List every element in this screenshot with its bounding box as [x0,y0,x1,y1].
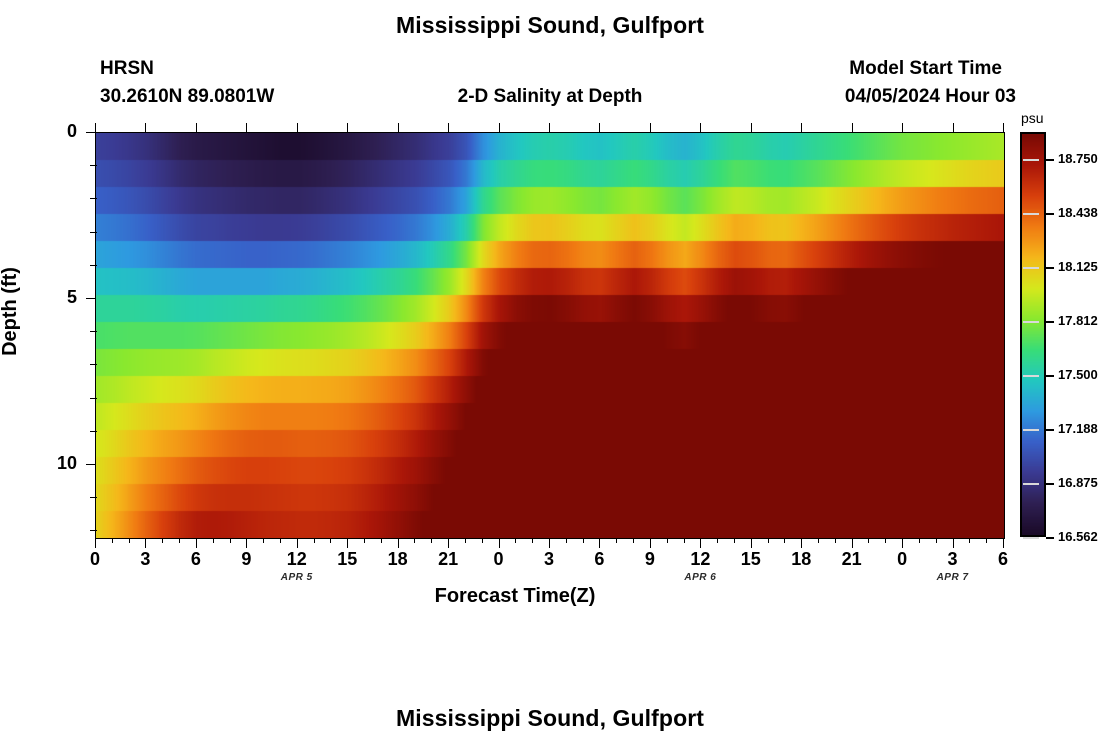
x-axis-label: 6 [983,549,1023,570]
x-axis-day-label: APR 6 [665,572,735,583]
y-axis-minor-tick [90,331,97,332]
x-axis-minor-tick [717,539,718,543]
colorbar-canvas [1020,132,1046,537]
y-axis-minor-tick [90,431,97,432]
x-axis-tick [145,539,146,548]
salinity-heatmap-canvas [96,133,1004,538]
x-axis-minor-tick [482,539,483,543]
model-start-time-value: 04/05/2024 Hour 03 [845,86,1016,108]
x-axis-minor-tick [515,539,516,543]
colorbar-tick-inner [1023,267,1039,269]
x-axis-minor-tick [768,539,769,543]
x-axis-tick [1003,539,1004,548]
y-axis-label: 5 [37,287,77,308]
x-axis-tick-top [145,123,146,132]
colorbar-tick-inner [1023,321,1039,323]
station-id-label: HRSN [100,58,154,80]
colorbar-tick [1046,267,1054,269]
x-axis-day-label: APR 5 [262,572,332,583]
colorbar-tick [1046,375,1054,377]
x-axis-minor-tick [566,539,567,543]
x-axis-label: 21 [428,549,468,570]
y-axis-minor-tick [90,530,97,531]
x-axis-tick [448,539,449,548]
x-axis-minor-tick [465,539,466,543]
y-axis-label: 0 [37,121,77,142]
x-axis-tick [599,539,600,548]
x-axis-label: 9 [226,549,266,570]
colorbar-tick [1046,429,1054,431]
x-axis-tick-top [347,123,348,132]
y-axis-minor-tick [90,198,97,199]
x-axis-label: 21 [832,549,872,570]
x-axis-tick [953,539,954,548]
x-axis-label: 6 [176,549,216,570]
x-axis-label: 3 [933,549,973,570]
y-axis-tick [86,132,95,133]
x-axis-label: 0 [479,549,519,570]
x-axis-tick [751,539,752,548]
x-axis-label: 6 [579,549,619,570]
heatmap-plot-area [95,132,1005,539]
x-axis-label: 12 [680,549,720,570]
x-axis-minor-tick [936,539,937,543]
x-axis-minor-tick [986,539,987,543]
x-axis-tick [347,539,348,548]
x-axis-minor-tick [129,539,130,543]
x-axis-label: 3 [529,549,569,570]
x-axis-tick [801,539,802,548]
x-axis-tick [700,539,701,548]
x-axis-minor-tick [684,539,685,543]
x-axis-tick [650,539,651,548]
colorbar-tick-inner [1023,375,1039,377]
x-axis-minor-tick [969,539,970,543]
x-axis-label: 12 [277,549,317,570]
footer-title: Mississippi Sound, Gulfport [0,705,1100,732]
x-axis-tick-top [448,123,449,132]
x-axis-minor-tick [667,539,668,543]
x-axis-tick-top [599,123,600,132]
x-axis-label: 0 [75,549,115,570]
x-axis-minor-tick [162,539,163,543]
colorbar-tick-label: 18.125 [1058,259,1098,274]
y-axis-tick [86,298,95,299]
x-axis-tick-top [398,123,399,132]
x-axis-label: 18 [378,549,418,570]
x-axis-label: 3 [125,549,165,570]
x-axis-tick [499,539,500,548]
x-axis-tick-top [751,123,752,132]
model-start-time-label: Model Start Time [849,58,1002,80]
x-axis-minor-tick [431,539,432,543]
x-axis-label: 0 [882,549,922,570]
x-axis-tick [297,539,298,548]
x-axis-tick-top [953,123,954,132]
colorbar-tick-inner [1023,483,1039,485]
x-axis-tick-top [549,123,550,132]
x-axis-tick [196,539,197,548]
x-axis-minor-tick [280,539,281,543]
x-axis-minor-tick [414,539,415,543]
x-axis-label: 18 [781,549,821,570]
y-axis-minor-tick [90,398,97,399]
x-axis-minor-tick [868,539,869,543]
x-axis-minor-tick [784,539,785,543]
x-axis-label: 9 [630,549,670,570]
colorbar-tick [1046,159,1054,161]
x-axis-minor-tick [364,539,365,543]
x-axis-minor-tick [616,539,617,543]
x-axis-minor-tick [734,539,735,543]
x-axis-minor-tick [179,539,180,543]
x-axis-tick [902,539,903,548]
x-axis-title: Forecast Time(Z) [0,585,1030,608]
x-axis-tick-top [852,123,853,132]
x-axis-minor-tick [381,539,382,543]
x-axis-minor-tick [885,539,886,543]
colorbar-tick-label: 18.438 [1058,205,1098,220]
colorbar-tick-inner [1023,537,1039,539]
colorbar [1020,132,1046,537]
x-axis-minor-tick [213,539,214,543]
x-axis-day-label: APR 7 [918,572,988,583]
y-axis-tick [86,464,95,465]
x-axis-minor-tick [112,539,113,543]
x-axis-tick [398,539,399,548]
x-axis-minor-tick [330,539,331,543]
x-axis-tick-top [196,123,197,132]
x-axis-tick-top [297,123,298,132]
colorbar-tick [1046,213,1054,215]
colorbar-tick-label: 17.812 [1058,313,1098,328]
x-axis-label: 15 [327,549,367,570]
colorbar-tick-label: 16.875 [1058,475,1098,490]
colorbar-tick-label: 17.500 [1058,367,1098,382]
x-axis-minor-tick [919,539,920,543]
x-axis-minor-tick [818,539,819,543]
x-axis-tick-top [700,123,701,132]
x-axis-tick [95,539,96,548]
x-axis-minor-tick [633,539,634,543]
x-axis-tick [246,539,247,548]
x-axis-tick-top [902,123,903,132]
y-axis-minor-tick [90,265,97,266]
y-axis-title: Depth (ft) [0,267,22,356]
colorbar-tick-label: 18.750 [1058,151,1098,166]
x-axis-label: 15 [731,549,771,570]
colorbar-tick [1046,537,1054,539]
x-axis-minor-tick [230,539,231,543]
y-axis-minor-tick [90,364,97,365]
page-title: Mississippi Sound, Gulfport [0,12,1100,39]
x-axis-tick-top [1003,123,1004,132]
colorbar-tick-inner [1023,159,1039,161]
y-axis-label: 10 [37,453,77,474]
colorbar-tick [1046,321,1054,323]
colorbar-tick [1046,483,1054,485]
x-axis-minor-tick [835,539,836,543]
x-axis-tick [852,539,853,548]
x-axis-tick-top [499,123,500,132]
y-axis-minor-tick [90,497,97,498]
y-axis-minor-tick [90,165,97,166]
colorbar-tick-label: 16.562 [1058,529,1098,544]
colorbar-tick-inner [1023,213,1039,215]
colorbar-tick-label: 17.188 [1058,421,1098,436]
x-axis-minor-tick [583,539,584,543]
x-axis-tick-top [95,123,96,132]
colorbar-tick-inner [1023,429,1039,431]
x-axis-tick-top [246,123,247,132]
y-axis-minor-tick [90,232,97,233]
x-axis-minor-tick [532,539,533,543]
x-axis-minor-tick [263,539,264,543]
x-axis-minor-tick [314,539,315,543]
x-axis-tick-top [650,123,651,132]
x-axis-tick-top [801,123,802,132]
x-axis-tick [549,539,550,548]
colorbar-unit-label: psu [1021,110,1044,126]
chart-page: Mississippi Sound, Gulfport HRSN 30.2610… [0,0,1100,750]
